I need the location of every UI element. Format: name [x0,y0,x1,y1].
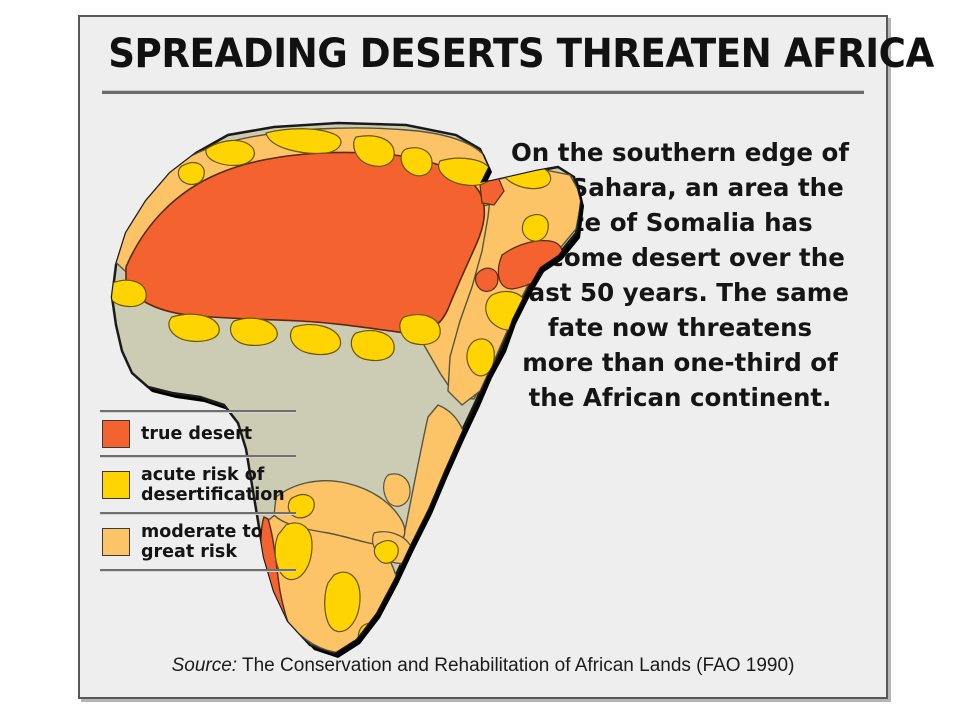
title-block: SPREADING DESERTS THREATEN AFRICA [80,17,886,95]
legend-label-true-desert: true desert [141,424,252,444]
legend-divider-bottom [100,569,296,572]
legend-item-true-desert[interactable]: true desert [100,413,296,455]
legend-label-acute-risk: acute risk of desertification [141,465,296,505]
title-divider [102,90,864,94]
page-title: SPREADING DESERTS THREATEN AFRICA [108,31,858,77]
legend-swatch-true-desert [102,420,130,448]
legend-swatch-acute-risk [102,471,130,499]
source-text: The Conservation and Rehabilitation of A… [237,655,794,676]
source-prefix: Source: [172,655,237,676]
legend-label-moderate-risk: moderate to great risk [141,522,296,562]
map-svg [88,105,588,670]
infographic-panel: SPREADING DESERTS THREATEN AFRICA On the… [78,15,888,699]
source-attribution: Source: The Conservation and Rehabilitat… [80,655,886,677]
legend-swatch-moderate-risk [102,528,130,556]
legend-item-moderate-risk[interactable]: moderate to great risk [100,515,296,569]
africa-desertification-map [88,105,588,670]
legend-item-acute-risk[interactable]: acute risk of desertification [100,458,296,512]
map-legend: true desert acute risk of desertificatio… [100,410,296,572]
